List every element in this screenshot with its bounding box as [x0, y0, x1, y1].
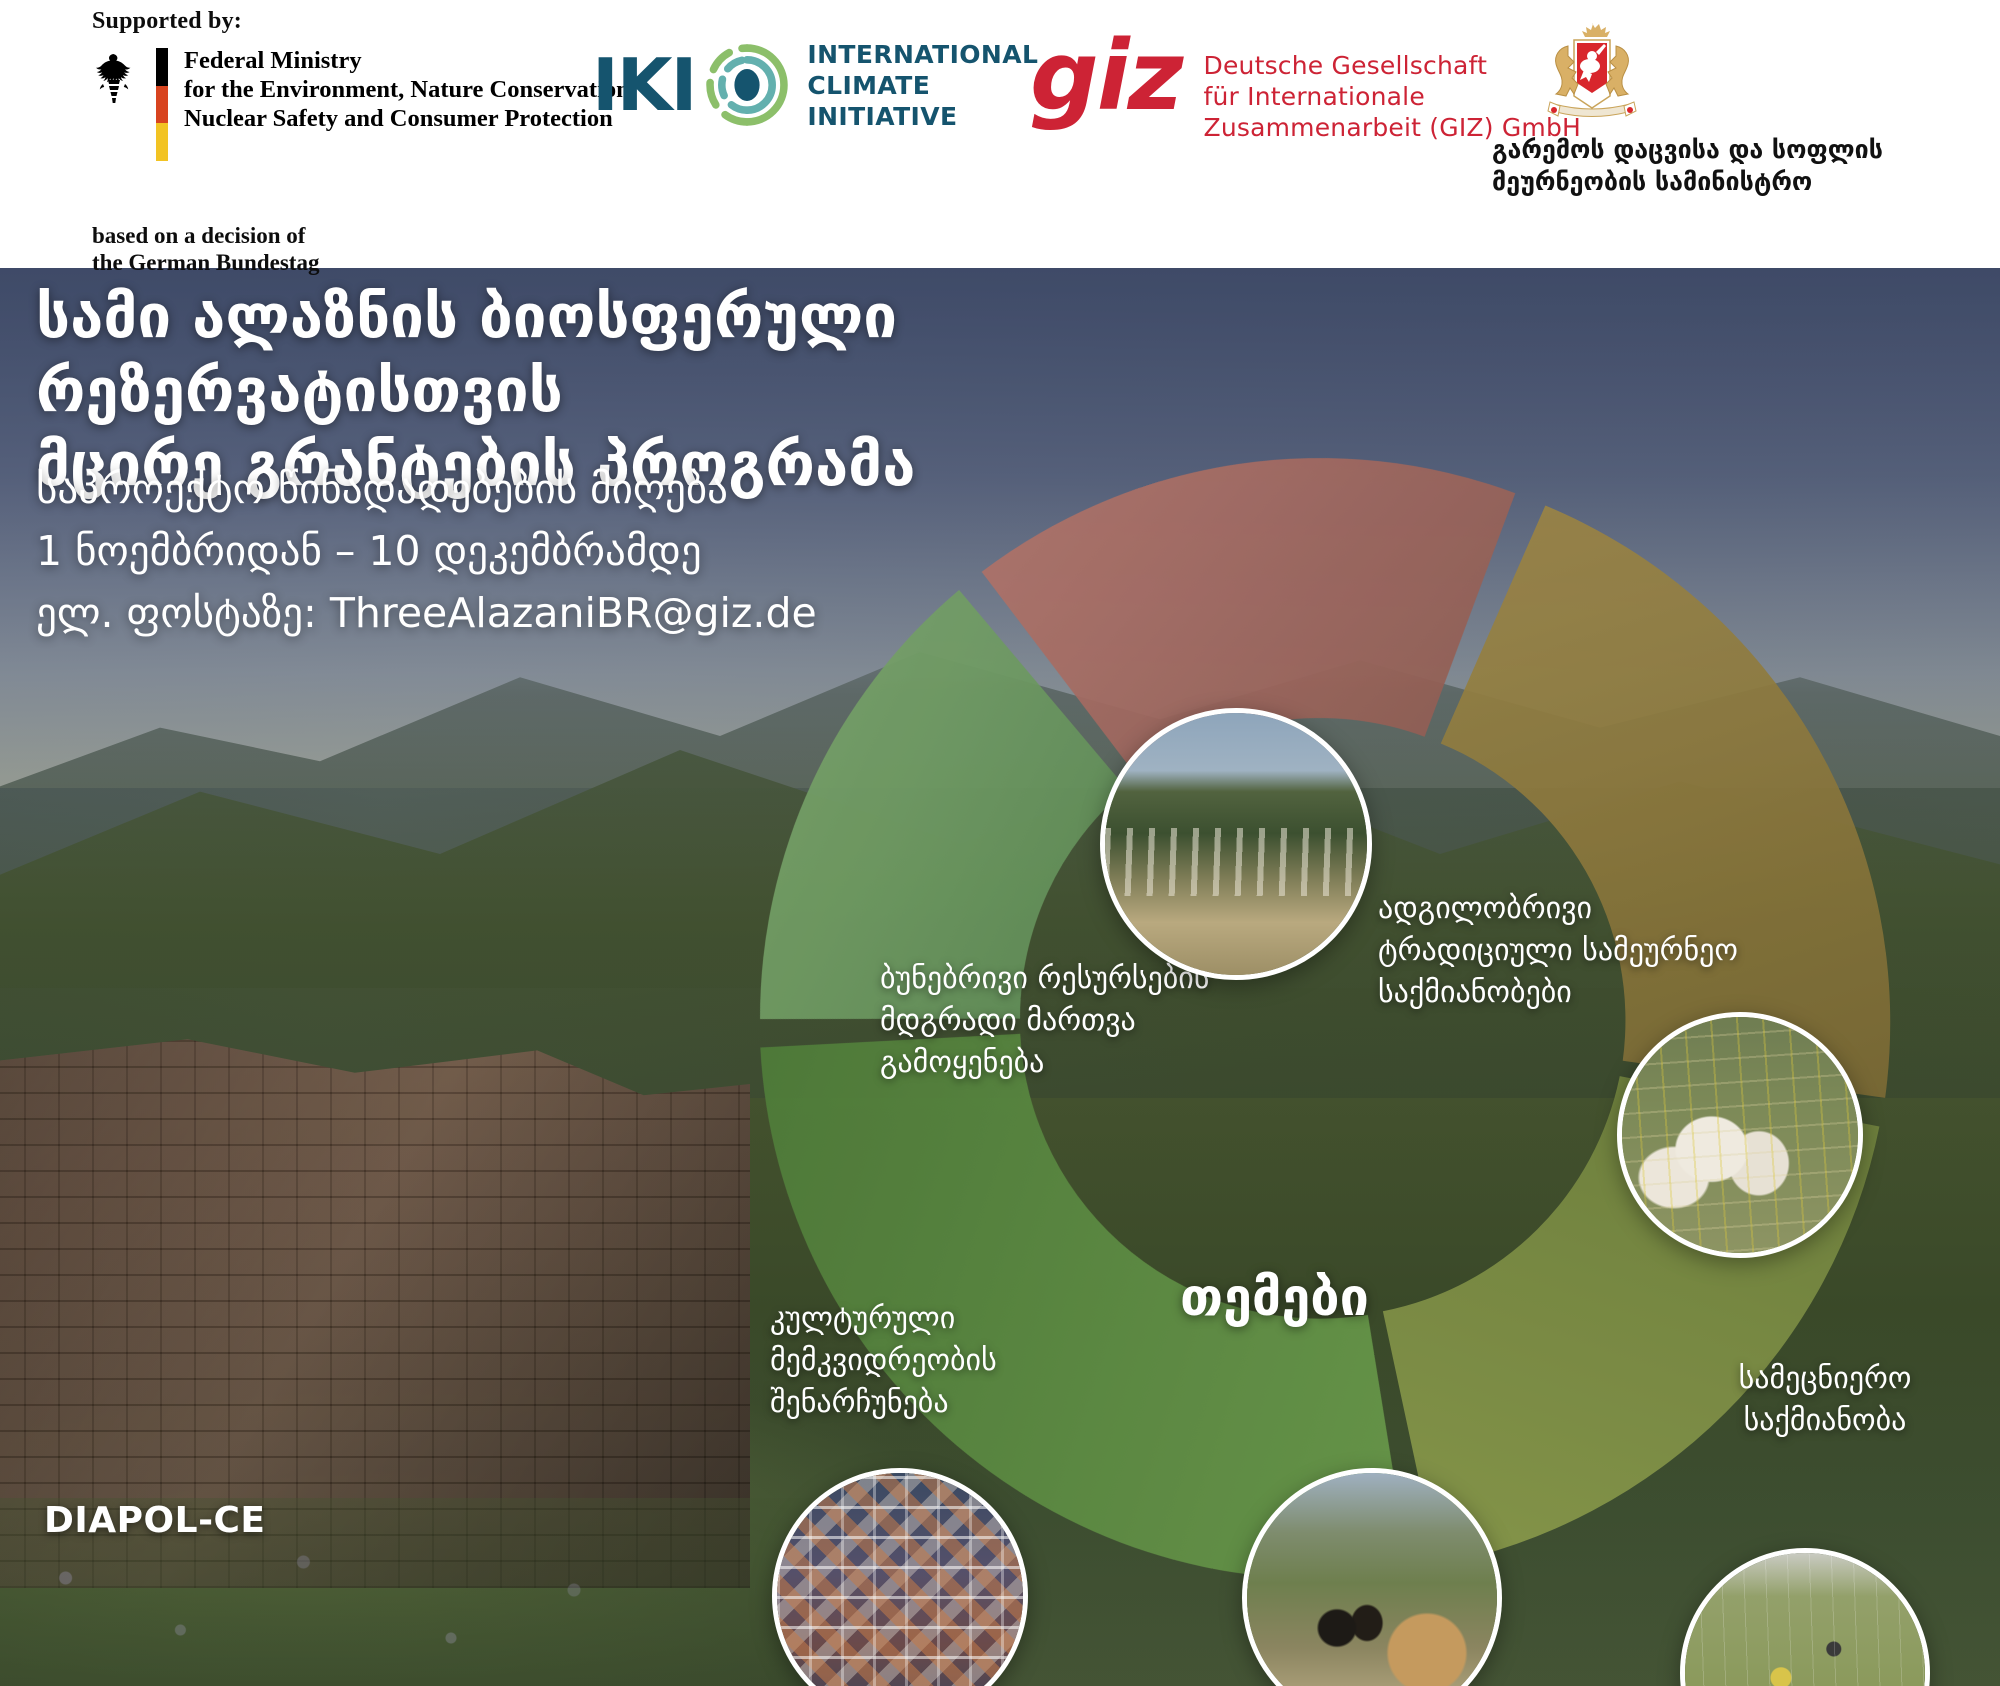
label-line-2: მემკვიდრეობის [770, 1340, 1090, 1382]
label-line-3: გამოყენება [880, 1042, 1310, 1084]
poster-body: სამი ალაზნის ბიოსფერული რეზერვატისთვის მ… [0, 268, 2000, 1686]
bubble-sheep-pasture-photo [1617, 1012, 1863, 1258]
label-line-3: შენარჩუნება [770, 1382, 1090, 1424]
iki-logo: IKI INTERNATIONAL CLIMATE INITIATIVE [592, 42, 1038, 128]
wheel-label-local-traditional-farming: ადგილობრივი ტრადიციული სამეურნეო საქმიან… [1378, 888, 1838, 1014]
diapol-ce-watermark: DIAPOL-CE [44, 1500, 266, 1541]
iki-wordmark: IKI [592, 53, 695, 118]
german-flag-bar [156, 48, 168, 161]
bundestag-note: based on a decision of the German Bundes… [92, 222, 319, 276]
woven-carpet-photo [777, 1473, 1023, 1686]
giz-name: Deutsche Gesellschaft für Internationale… [1204, 50, 1582, 143]
bubble-mountain-village-photo [1100, 708, 1372, 980]
georgia-coat-of-arms-icon [1532, 20, 1652, 124]
iki-line-1: INTERNATIONAL [807, 39, 1038, 70]
label-line-1: კულტურული [770, 1298, 1090, 1340]
label-line-2: ტრადიციული სამეურნეო [1378, 930, 1838, 972]
bmu-name: Federal Ministry for the Environment, Na… [184, 46, 636, 133]
subtitle-line-2: 1 ნოემბრიდან – 10 დეკემბრამდე [36, 520, 1086, 582]
iki-name: INTERNATIONAL CLIMATE INITIATIVE [807, 39, 1038, 132]
supported-by-label: Supported by: [92, 8, 242, 35]
ministry-name: გარემოს დაცვისა და სოფლის მეურნეობის სამ… [1492, 134, 1992, 198]
mountain-village-photo [1105, 713, 1367, 975]
subtitle-line-3: ელ. ფოსტაზე: ThreeAlazaniBR@giz.de [36, 582, 1086, 644]
bmu-logo: Federal Ministry for the Environment, Na… [88, 48, 518, 158]
iki-line-2: CLIMATE [807, 70, 1038, 101]
label-line-1: სამეცნიერო [1700, 1358, 1950, 1400]
sponsor-header: Supported by: Federal Ministry for the E… [0, 0, 2000, 268]
wine-honey-photo [1247, 1473, 1497, 1686]
label-line-2: საქმიანობა [1700, 1400, 1950, 1442]
ministry-line-2: მეურნეობის სამინისტრო [1492, 166, 1992, 198]
poster-page: Supported by: Federal Ministry for the E… [0, 0, 2000, 1686]
wheel-label-scientific-activity: სამეცნიერო საქმიანობა [1700, 1358, 1950, 1442]
iki-concentric-rings-icon [705, 43, 789, 127]
label-line-1: ადგილობრივი [1378, 888, 1838, 930]
german-eagle-icon [88, 50, 140, 112]
bundestag-note-line-1: based on a decision of [92, 222, 319, 249]
giz-line-2: für Internationale [1204, 81, 1582, 112]
bmu-line-3: Nuclear Safety and Consumer Protection [184, 104, 636, 133]
bmu-line-1: Federal Ministry [184, 46, 636, 75]
wheel-label-cultural-heritage: კულტურული მემკვიდრეობის შენარჩუნება [770, 1298, 1090, 1424]
giz-line-1: Deutsche Gesellschaft [1204, 50, 1582, 81]
giz-wordmark: giz [1030, 36, 1182, 118]
iki-line-3: INITIATIVE [807, 101, 1038, 132]
page-subtitle: საპროექტო წინადადებების მიღება 1 ნოემბრი… [36, 458, 1086, 644]
bmu-line-2: for the Environment, Nature Conservation… [184, 75, 636, 104]
subtitle-line-1: საპროექტო წინადადებების მიღება [36, 458, 1086, 520]
giz-logo: giz Deutsche Gesellschaft für Internatio… [1030, 36, 1581, 143]
label-line-2: მდგრადი მართვა [880, 1000, 1310, 1042]
wheel-center-label: თემები [1180, 1268, 1369, 1328]
bundestag-note-line-2: the German Bundestag [92, 249, 319, 276]
sheep-pasture-photo [1622, 1017, 1858, 1253]
ministry-line-1: გარემოს დაცვისა და სოფლის [1492, 134, 1992, 166]
page-title-line-1: სამი ალაზნის ბიოსფერული რეზერვატისთვის [36, 280, 1216, 428]
label-line-3: საქმიანობები [1378, 972, 1838, 1014]
